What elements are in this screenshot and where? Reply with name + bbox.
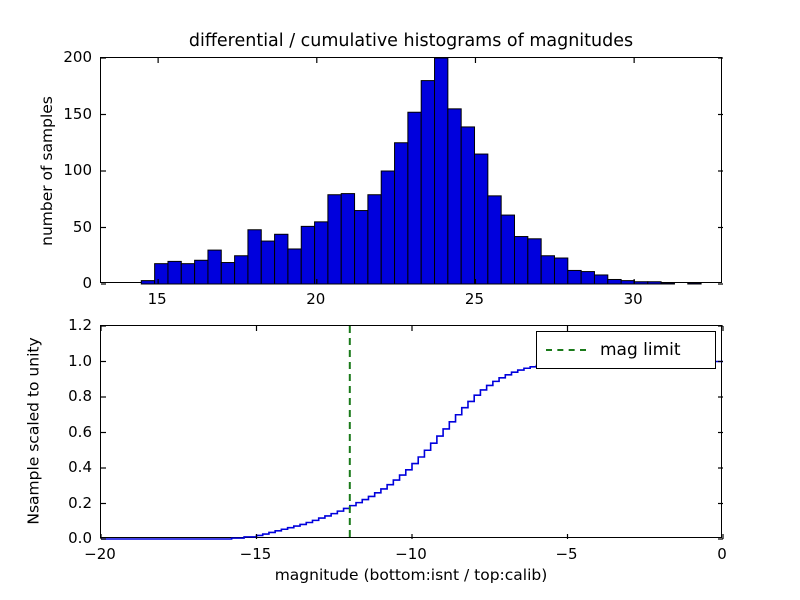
tick-label: 100: [0, 161, 92, 179]
histogram-bar: [168, 261, 181, 284]
histogram-bar: [301, 226, 314, 284]
tick-label: −5: [555, 545, 577, 563]
histogram-bar: [541, 256, 554, 284]
tick-label: 0.8: [0, 387, 92, 405]
tick-label: 0.0: [0, 529, 92, 547]
tick-label: 0.4: [0, 458, 92, 476]
histogram-bar: [461, 127, 474, 284]
tick-label: 30: [624, 290, 643, 308]
histogram-bar: [488, 196, 501, 284]
histogram-bar: [515, 237, 528, 284]
histogram-bar: [275, 234, 288, 284]
histogram-bar: [341, 194, 354, 284]
histogram-bar: [141, 281, 154, 284]
histogram-bar: [195, 260, 208, 284]
tick-label: 1.0: [0, 352, 92, 370]
histogram-bar: [355, 211, 368, 284]
histogram-bar: [181, 264, 194, 284]
histogram-bar: [648, 282, 661, 284]
legend-dashed-line-swatch: [546, 349, 586, 351]
tick-label: 0: [717, 545, 727, 563]
histogram-bar: [395, 143, 408, 284]
tick-label: 0.6: [0, 423, 92, 441]
legend-label-mag-limit: mag limit: [600, 340, 681, 360]
histogram-bar: [621, 281, 634, 284]
tick-label: 0.2: [0, 494, 92, 512]
tick-label: 1.2: [0, 316, 92, 334]
chart-title: differential / cumulative histograms of …: [100, 31, 722, 51]
tick-label: 200: [0, 48, 92, 66]
histogram-bar: [528, 239, 541, 284]
histogram-bar: [501, 215, 514, 284]
tick-label: −10: [395, 545, 427, 563]
histogram-bar: [594, 275, 607, 284]
histogram-bar: [435, 58, 448, 284]
top-plot-drawing: [101, 58, 723, 284]
histogram-bar: [315, 222, 328, 284]
tick-label: −20: [84, 545, 116, 563]
histogram-bar: [248, 230, 261, 284]
histogram-bar: [568, 270, 581, 284]
tick-label: 25: [465, 290, 484, 308]
tick-label: 15: [148, 290, 167, 308]
histogram-bar: [208, 250, 221, 284]
x-axis-label: magnitude (bottom:isnt / top:calib): [100, 566, 722, 584]
cumulative-step-line: [101, 362, 723, 540]
histogram-bar: [448, 109, 461, 284]
histogram-bar: [408, 112, 421, 284]
histogram-bar: [475, 154, 488, 284]
histogram-bar: [381, 171, 394, 284]
histogram-bar: [235, 256, 248, 284]
histogram-bar: [221, 263, 234, 284]
tick-label: 50: [0, 218, 92, 236]
histogram-bar: [608, 279, 621, 284]
histogram-bar: [155, 264, 168, 284]
tick-label: −15: [240, 545, 272, 563]
tick-label: 0: [0, 274, 92, 292]
histogram-bar: [421, 81, 434, 284]
histogram-bar: [261, 241, 274, 284]
histogram-bar: [661, 283, 674, 284]
histogram-bar: [634, 282, 647, 284]
histogram-bar: [288, 249, 301, 284]
legend: mag limit: [536, 331, 716, 369]
histogram-bar: [368, 195, 381, 284]
top-plot-axes: [100, 57, 722, 283]
tick-label: 20: [306, 290, 325, 308]
histogram-bar: [328, 195, 341, 284]
histogram-bar: [688, 283, 701, 284]
histogram-bar: [581, 272, 594, 284]
figure-canvas: differential / cumulative histograms of …: [0, 0, 800, 600]
histogram-bar: [554, 258, 567, 284]
tick-label: 150: [0, 105, 92, 123]
